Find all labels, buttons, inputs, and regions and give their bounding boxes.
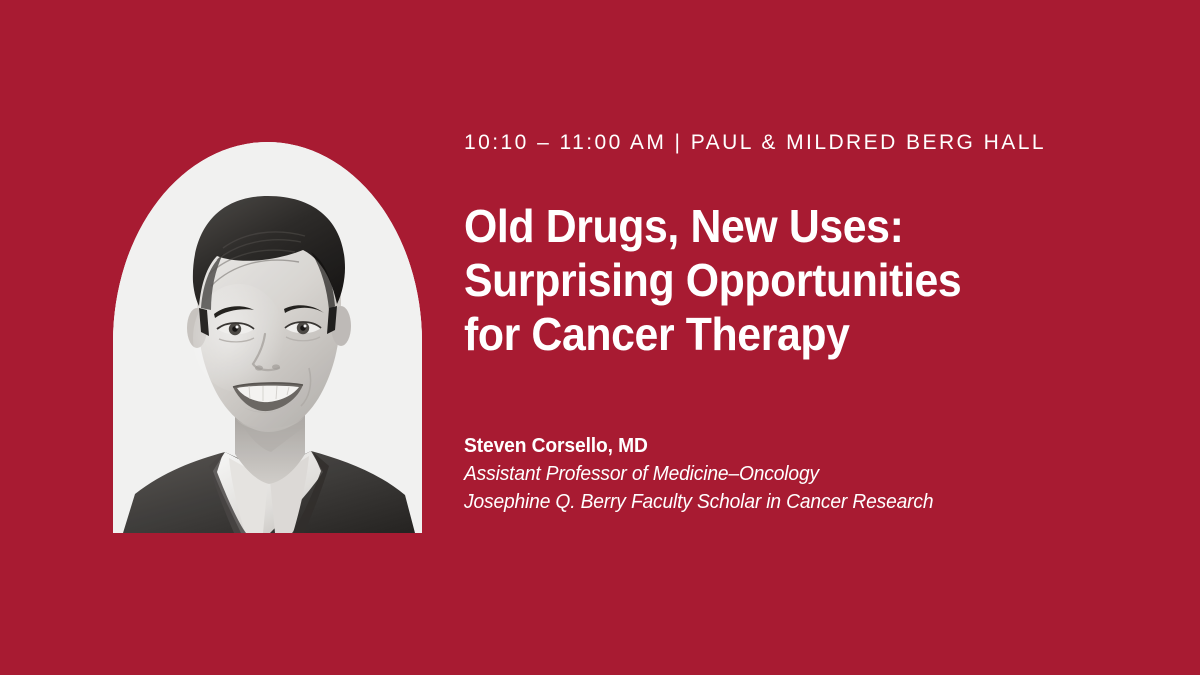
speaker-announcement-slide: Black and white headshot of Steven Corse…: [0, 0, 1200, 675]
speaker-role-secondary: Josephine Q. Berry Faculty Scholar in Ca…: [464, 488, 1136, 516]
talk-title-line-1: Old Drugs, New Uses:: [464, 200, 1115, 254]
speaker-role-primary: Assistant Professor of Medicine–Oncology: [464, 460, 1136, 488]
speaker-details: Steven Corsello, MD Assistant Professor …: [464, 432, 1164, 516]
speaker-portrait-frame: Black and white headshot of Steven Corse…: [113, 142, 422, 533]
speaker-name: Steven Corsello, MD: [464, 432, 1136, 460]
speaker-portrait-photo: Black and white headshot of Steven Corse…: [113, 142, 422, 533]
talk-title: Old Drugs, New Uses: Surprising Opportun…: [464, 200, 1115, 361]
slide-text-column: 10:10 – 11:00 AM | PAUL & MILDRED BERG H…: [464, 130, 1164, 516]
talk-title-line-2: Surprising Opportunities: [464, 254, 1115, 308]
talk-title-line-3: for Cancer Therapy: [464, 308, 1115, 362]
session-time-and-venue: 10:10 – 11:00 AM | PAUL & MILDRED BERG H…: [464, 130, 1164, 156]
